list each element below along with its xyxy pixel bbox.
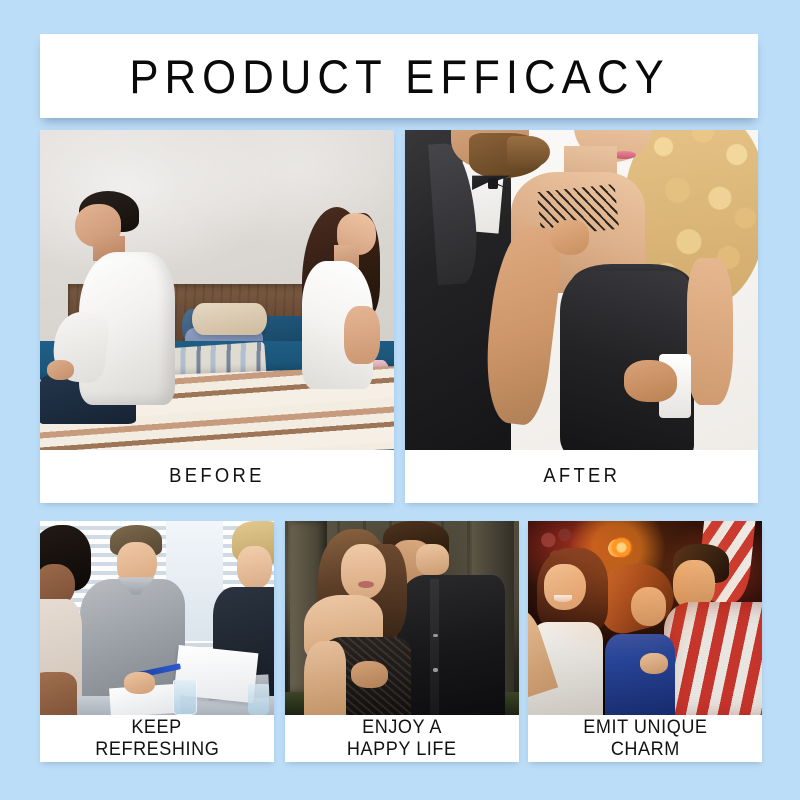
- woman-arm-right: [687, 258, 733, 405]
- emit-unique-charm-caption: EMIT UNIQUE CHARM: [528, 715, 762, 762]
- before-caption: BEFORE: [40, 450, 394, 503]
- blonde-woman-face: [237, 546, 272, 589]
- woman-1-face: [544, 564, 586, 611]
- business-meeting-photo: [40, 521, 274, 715]
- man-black-shirt: [397, 575, 505, 715]
- after-caption: AFTER: [405, 450, 758, 503]
- caption-line-1: KEEP: [132, 717, 182, 738]
- water-glass-1: [173, 680, 196, 715]
- caption-line-2: REFRESHING: [95, 739, 219, 760]
- caption-line-1: EMIT UNIQUE: [583, 717, 707, 738]
- enjoy-a-happy-life-caption: ENJOY A HAPPY LIFE: [285, 715, 519, 762]
- man-hand-upper: [550, 220, 589, 255]
- before-photo: [40, 130, 394, 450]
- woman-arm: [304, 641, 346, 715]
- enjoy-a-happy-life-card: ENJOY A HAPPY LIFE: [285, 521, 519, 762]
- woman-lips: [358, 581, 374, 588]
- bow-tie-knot: [488, 178, 498, 189]
- after-card: AFTER: [405, 130, 758, 503]
- caption-line-2: CHARM: [610, 739, 679, 760]
- caption-line-1: ENJOY A: [362, 717, 442, 738]
- woman-face: [341, 544, 385, 598]
- woman-1-smile: [554, 595, 573, 602]
- water-glass-2: [248, 684, 269, 715]
- after-caption-text: AFTER: [543, 465, 620, 488]
- before-caption-text: BEFORE: [169, 465, 265, 488]
- man-hand: [124, 672, 154, 693]
- after-photo: [405, 130, 758, 450]
- woman-2-face: [631, 587, 666, 626]
- page-title: PRODUCT EFFICACY: [129, 49, 669, 104]
- man-hand: [351, 661, 388, 688]
- woman-2-hand: [640, 653, 668, 674]
- shirt-button-2: [433, 668, 437, 671]
- caption-line-2: HAPPY LIFE: [347, 739, 457, 760]
- party-photo: [528, 521, 762, 715]
- title-banner: PRODUCT EFFICACY: [40, 34, 758, 118]
- cream-pillow: [192, 303, 266, 335]
- man-hand-lower: [624, 360, 677, 402]
- stage-light: [610, 537, 633, 558]
- woman-left-arm: [40, 672, 77, 715]
- woman-hand: [416, 544, 449, 575]
- keep-refreshing-caption: KEEP REFRESHING: [40, 715, 274, 762]
- woman-arm: [344, 306, 379, 364]
- before-card: BEFORE: [40, 130, 394, 503]
- shirt-button-1: [433, 634, 437, 637]
- man-hand: [47, 360, 74, 379]
- man-striped-shirt: [664, 602, 762, 715]
- man-beard-highlight: [507, 136, 549, 168]
- romantic-couple-photo: [285, 521, 519, 715]
- emit-unique-charm-card: EMIT UNIQUE CHARM: [528, 521, 762, 762]
- shirt-placket: [430, 579, 439, 715]
- keep-refreshing-card: KEEP REFRESHING: [40, 521, 274, 762]
- woman-2-top: [605, 634, 675, 715]
